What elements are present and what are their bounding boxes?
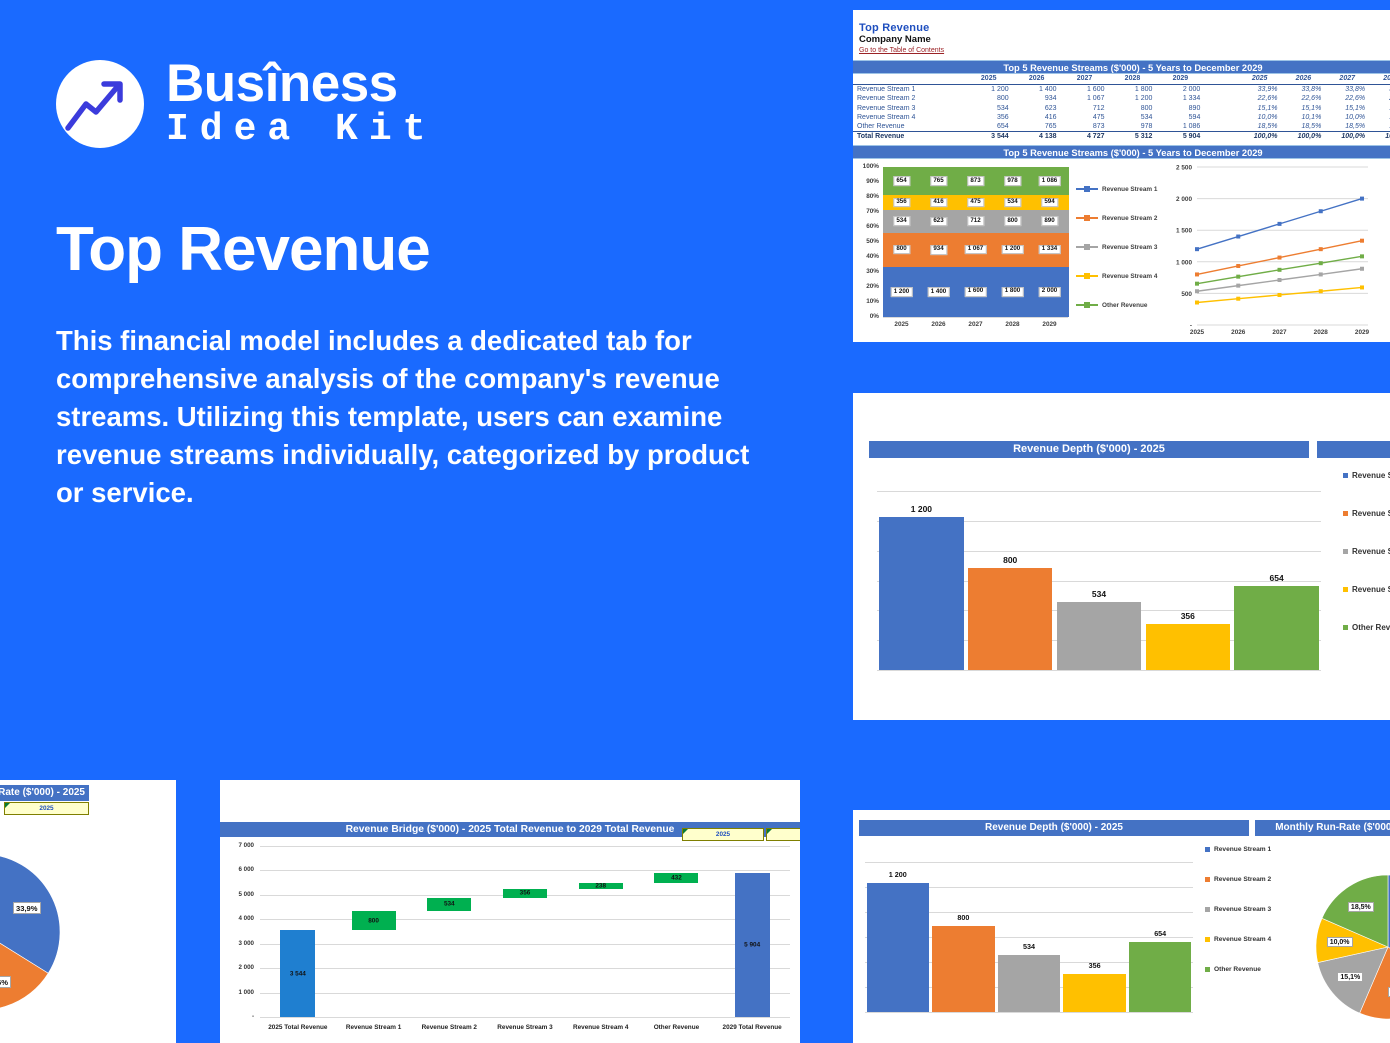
svg-text:2025: 2025 — [1190, 329, 1205, 336]
legend-label: Revenue Stream 1 — [1352, 471, 1390, 480]
legend-marker-icon — [1205, 907, 1210, 912]
pie-value-label: 18,5% — [1348, 902, 1374, 912]
revenue-depth-title: Revenue Depth ($'000) - 2025 — [869, 441, 1309, 458]
bar-value-label: 356 — [1063, 961, 1125, 970]
legend-marker-icon — [1343, 473, 1348, 478]
y-axis-tick: 3 000 — [220, 940, 254, 947]
waterfall-bar: 356 — [503, 889, 547, 898]
bar — [1146, 624, 1230, 670]
table-row: Revenue Stream 28009341 0671 2001 33422,… — [853, 94, 1390, 103]
table-row: Revenue Stream 11 2001 4001 6001 8002 00… — [853, 85, 1390, 95]
bar-value-label: 534 — [1057, 589, 1141, 599]
monthly-run-rate-title-left: Run-Rate ($'000) - 2025 — [0, 785, 89, 801]
table-total-row: Total Revenue3 5444 1384 7275 3125 90410… — [853, 132, 1390, 142]
table-row: Other Revenue6547658739781 08618,5%18,5%… — [853, 122, 1390, 132]
pie-svg — [0, 832, 82, 1032]
svg-text:2 500: 2 500 — [1176, 165, 1192, 172]
svg-text:1 500: 1 500 — [1176, 228, 1192, 235]
legend-label: Revenue Stream 2 — [1352, 509, 1390, 518]
page-title: Top Revenue — [56, 214, 430, 285]
waterfall-value-label: 534 — [444, 901, 455, 908]
legend-label: Other Revenue — [1214, 966, 1261, 973]
monthly-run-rate-card-left: Run-Rate ($'000) - 2025 2025 33,9%22,6%1… — [0, 780, 176, 1043]
revenue-depth-title-bottom: Revenue Depth ($'000) - 2025 — [859, 820, 1249, 836]
pie-value-label: 10,0% — [1327, 937, 1353, 947]
y-axis-tick: 5 000 — [220, 891, 254, 898]
bar-value-label: 800 — [968, 555, 1052, 565]
sheet-band-title: Top 5 Revenue Streams ($'000) - 5 Years … — [853, 60, 1390, 74]
waterfall-bar: 238 — [579, 883, 623, 889]
bar-value-label: 654 — [1129, 929, 1191, 938]
waterfall-value-label: 3 544 — [290, 970, 306, 977]
revenue-depth-card: Revenue Depth ($'000) - 2025 1 200800534… — [853, 393, 1390, 720]
waterfall-bar: 3 544 — [280, 930, 315, 1017]
pie-value-label: 15,1% — [1337, 972, 1363, 982]
revenue-depth-plot-bottom: 1 200800534356654 — [859, 840, 1199, 1020]
legend-item: Revenue Stream 3 — [1343, 547, 1390, 556]
revenue-bridge-plot: -1 0002 0003 0004 0005 0006 0007 0003 54… — [220, 838, 800, 1043]
y-axis-tick: 1 000 — [220, 989, 254, 996]
sheet-title: Top Revenue — [853, 22, 1390, 34]
bar — [932, 926, 994, 1012]
y-axis-tick: 7 000 — [220, 842, 254, 849]
svg-text:2027: 2027 — [1272, 329, 1287, 336]
revenue-depth-plot: 1 200800534356654 — [869, 463, 1329, 678]
pie-value-label: 33,9% — [13, 902, 41, 914]
legend-label: Revenue Stream 2 — [1214, 876, 1271, 883]
y-axis-tick: 6 000 — [220, 866, 254, 873]
revenue-depth-card-bottom: Revenue Depth ($'000) - 2025 Monthly Run… — [853, 810, 1390, 1043]
legend-marker-icon — [1205, 967, 1210, 972]
sheet-company-name: Company Name — [853, 34, 1390, 45]
table-row: Revenue Stream 435641647553459410,0%10,1… — [853, 113, 1390, 122]
year-dropdown-left[interactable]: 2025 — [4, 802, 89, 815]
legend-label: Other Revenue — [1352, 623, 1390, 632]
legend-marker-icon — [1343, 549, 1348, 554]
waterfall-value-label: 238 — [595, 883, 606, 890]
bar — [1057, 602, 1141, 670]
bar-value-label: 534 — [998, 942, 1060, 951]
brand-lockup: Busîness Idea Kit — [56, 58, 436, 150]
revenue-streams-table: 202520262027202820292025202620272028Reve… — [853, 74, 1390, 141]
pie-value-label: 22,6% — [0, 976, 11, 988]
legend-marker-icon — [1343, 587, 1348, 592]
bar — [867, 883, 929, 1012]
page-description: This financial model includes a dedicate… — [56, 322, 756, 512]
table-row: Revenue Stream 353462371280089015,1%15,1… — [853, 104, 1390, 113]
legend-marker-icon — [1205, 877, 1210, 882]
waterfall-bar: 432 — [654, 873, 698, 884]
legend-item: Revenue Stream 1 — [1343, 471, 1390, 480]
svg-text:2 000: 2 000 — [1176, 197, 1192, 204]
bar — [968, 568, 1052, 670]
svg-text:1 000: 1 000 — [1176, 260, 1192, 267]
revenue-bridge-card: Revenue Bridge ($'000) - 2025 Total Reve… — [220, 780, 800, 1043]
svg-text:2026: 2026 — [1231, 329, 1246, 336]
legend-marker-icon — [1343, 511, 1348, 516]
bar-value-label: 800 — [932, 913, 994, 922]
bar — [879, 517, 963, 670]
growth-arrow-icon — [56, 60, 144, 148]
monthly-run-rate-pie-left: 33,9%22,6%15,1%10,0%18,5% — [0, 832, 82, 1032]
legend-label: Revenue Stream 3 — [1214, 906, 1271, 913]
legend-item: Revenue Stream 4 — [1343, 585, 1390, 594]
brand-name-primary: Busîness — [166, 58, 436, 110]
legend-item: Revenue Stream 2 — [1343, 509, 1390, 518]
legend-label: Revenue Stream 3 — [1352, 547, 1390, 556]
legend-marker-icon — [1205, 937, 1210, 942]
y-axis-tick: 4 000 — [220, 915, 254, 922]
spreadsheet-screenshot-top: Top Revenue Company Name Go to the Table… — [853, 10, 1390, 342]
legend-marker-icon — [1343, 625, 1348, 630]
bar — [998, 955, 1060, 1012]
stacked-bar-chart: 0%10%20%30%40%50%60%70%80%90%100%6543565… — [853, 159, 1390, 342]
legend-marker-icon — [1205, 847, 1210, 852]
legend-label: Revenue Stream 4 — [1352, 585, 1390, 594]
legend-label: Revenue Stream 4 — [1214, 936, 1271, 943]
bar — [1063, 974, 1125, 1012]
brand-name-secondary: Idea Kit — [166, 110, 436, 150]
table-of-contents-link[interactable]: Go to the Table of Contents — [853, 47, 944, 54]
revenue-depth-legend: Revenue Stream 1Revenue Stream 2Revenue … — [1343, 471, 1390, 661]
monthly-run-rate-pie-bottom: 33,9%22,6%15,1%10,0%18,5% — [1293, 852, 1390, 1042]
revenue-depth-title-spill — [1317, 441, 1390, 458]
bar — [1129, 942, 1191, 1012]
bar-value-label: 1 200 — [879, 504, 963, 514]
x-axis-tick: 2029 Total Revenue — [708, 1024, 796, 1031]
svg-text:2028: 2028 — [1314, 329, 1329, 336]
bar-value-label: 654 — [1234, 573, 1318, 583]
chart-band-title: Top 5 Revenue Streams ($'000) - 5 Years … — [853, 145, 1390, 159]
y-axis-tick: - — [220, 1013, 254, 1020]
bar-value-label: 356 — [1146, 611, 1230, 621]
waterfall-value-label: 800 — [368, 917, 379, 924]
waterfall-bar: 534 — [427, 898, 471, 911]
bar — [1234, 586, 1318, 670]
svg-text:2029: 2029 — [1355, 329, 1370, 336]
line-chart: -5001 0001 5002 0002 5002025202620272028… — [853, 159, 1390, 342]
waterfall-value-label: 356 — [520, 890, 531, 897]
waterfall-value-label: 5 904 — [744, 941, 760, 948]
y-axis-tick: 2 000 — [220, 964, 254, 971]
waterfall-value-label: 432 — [671, 875, 682, 882]
legend-label: Revenue Stream 1 — [1214, 846, 1271, 853]
waterfall-bar: 5 904 — [735, 873, 770, 1017]
svg-text:500: 500 — [1181, 291, 1192, 298]
legend-item: Other Revenue — [1343, 623, 1390, 632]
monthly-run-rate-title-bottom: Monthly Run-Rate ($'000) — [1255, 820, 1390, 836]
bar-value-label: 1 200 — [867, 870, 929, 879]
waterfall-bar: 800 — [352, 911, 396, 931]
